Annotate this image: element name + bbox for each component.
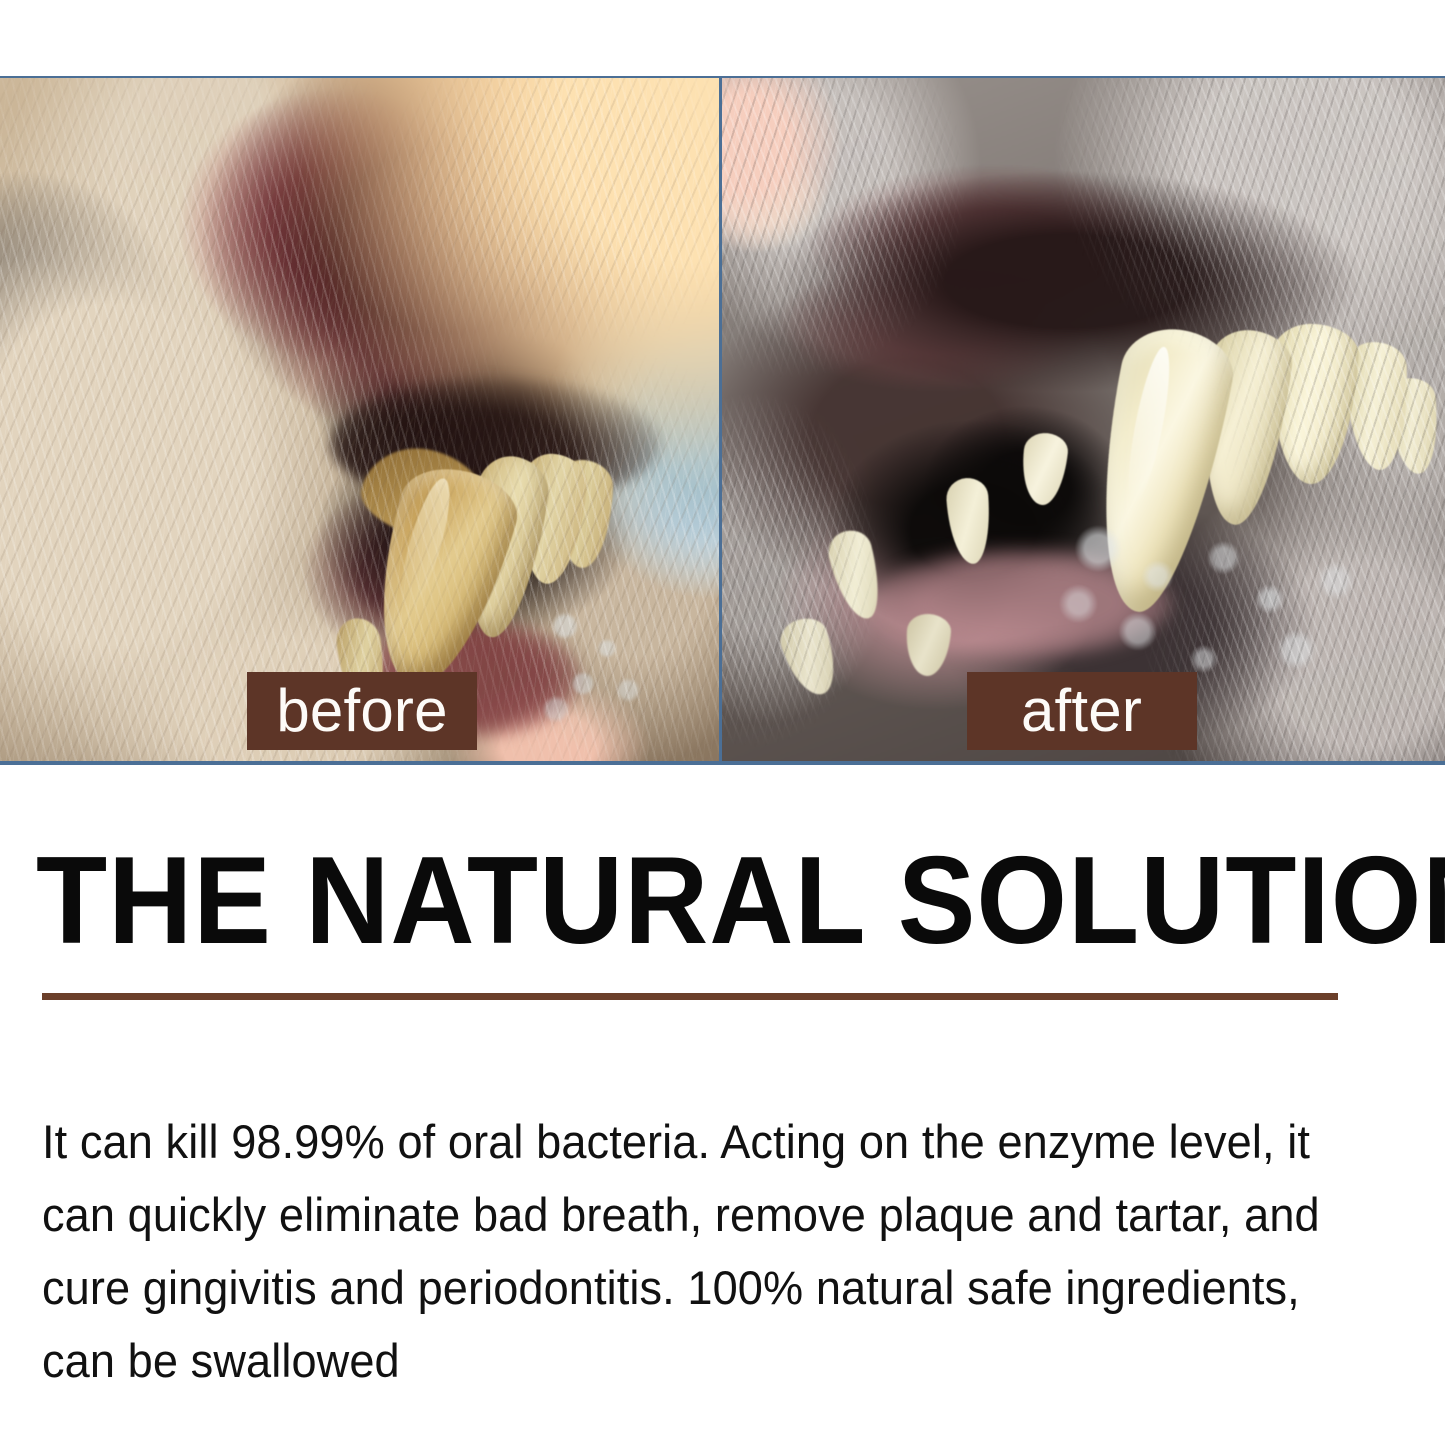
after-label-badge: after	[967, 672, 1197, 750]
before-fur-texture	[0, 78, 719, 761]
after-fur-texture	[722, 78, 1445, 761]
before-photo-panel: before	[0, 78, 719, 761]
before-after-comparison: before after	[0, 76, 1445, 765]
before-photo	[0, 78, 719, 761]
title-underline-rule	[42, 993, 1338, 1000]
page-title: THE NATURAL SOLUTION	[36, 839, 1333, 963]
after-photo	[722, 78, 1445, 761]
after-photo-panel: after	[719, 78, 1445, 761]
before-label-badge: before	[247, 672, 477, 750]
promo-page: before after THE NATURA	[0, 0, 1445, 1445]
description-paragraph: It can kill 98.99% of oral bacteria. Act…	[42, 1105, 1374, 1397]
